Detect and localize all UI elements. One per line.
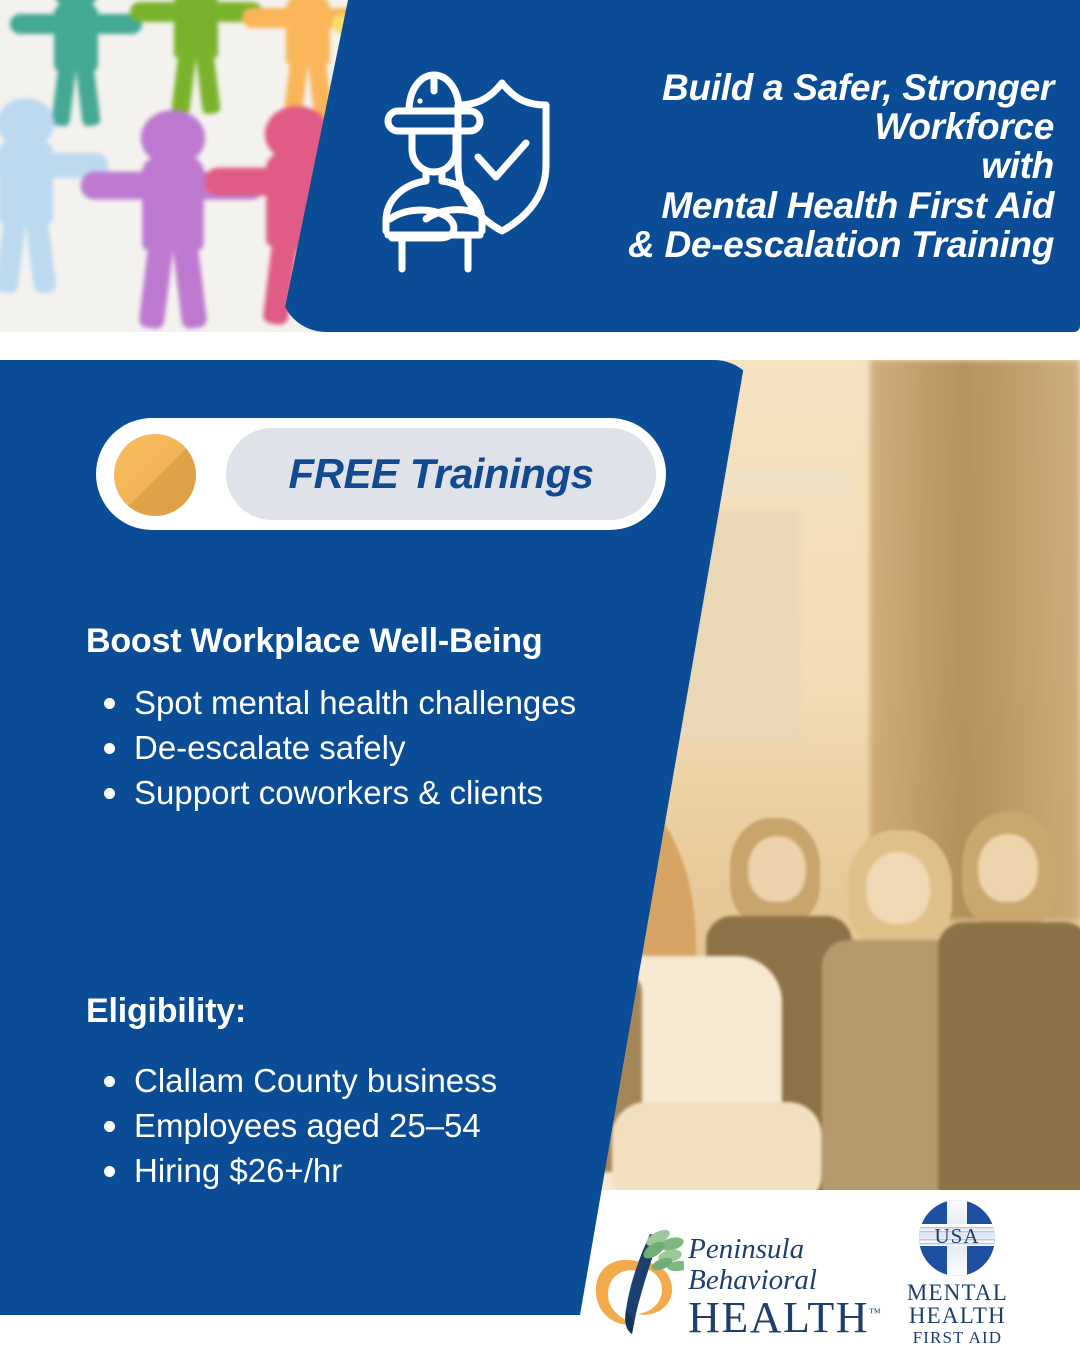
pbh-health-text: HEALTH [688, 1293, 869, 1342]
benefits-heading: Boost Workplace Well-Being [86, 622, 542, 661]
worker-shield-check-icon [376, 59, 556, 274]
list-item: Spot mental health challenges [86, 682, 676, 725]
headline-line-3: with [582, 146, 1054, 185]
header-band: Build a Safer, Stronger Workforce with M… [0, 0, 1080, 332]
eligibility-heading: Eligibility: [86, 992, 246, 1031]
eligibility-list: Clallam County business Employees aged 2… [86, 1060, 676, 1195]
pbh-line-3: HEALTH™ [688, 1296, 881, 1340]
mental-health-first-aid-usa-logo: USA MENTAL HEALTH FIRST AID [907, 1198, 1008, 1346]
benefits-list: Spot mental health challenges De-escalat… [86, 682, 676, 817]
headline-line-1: Build a Safer, Stronger [582, 68, 1054, 107]
list-item: Hiring $26+/hr [86, 1150, 676, 1193]
orange-circle-icon [114, 434, 196, 516]
pbh-line-2: Behavioral [688, 1266, 817, 1295]
list-item: Clallam County business [86, 1060, 676, 1103]
list-item: Employees aged 25–54 [86, 1105, 676, 1148]
mhfa-line-1: MENTAL [907, 1281, 1008, 1304]
free-trainings-pill: FREE Trainings [226, 428, 656, 520]
mhfa-cross-badge-icon: USA [911, 1198, 1003, 1276]
pbh-line-1: Peninsula [688, 1235, 804, 1264]
mhfa-line-2: HEALTH [907, 1304, 1008, 1327]
partner-logos: Peninsula Behavioral HEALTH™ [588, 1198, 1008, 1346]
pbh-wordmark: Peninsula Behavioral HEALTH™ [688, 1235, 881, 1340]
header-blue-panel: Build a Safer, Stronger Workforce with M… [280, 0, 1080, 332]
peninsula-behavioral-health-logo: Peninsula Behavioral HEALTH™ [588, 1228, 881, 1346]
headline-line-5: & De-escalation Training [582, 225, 1054, 264]
headline-line-4: Mental Health First Aid [582, 186, 1054, 225]
free-trainings-badge: FREE Trainings [96, 418, 666, 530]
list-item: Support coworkers & clients [86, 772, 676, 815]
headline-line-2: Workforce [582, 107, 1054, 146]
pbh-mark-icon [588, 1228, 684, 1346]
footer: Peninsula Behavioral HEALTH™ [0, 1190, 1080, 1350]
free-trainings-label: FREE Trainings [289, 450, 594, 498]
mhfa-wordmark: MENTAL HEALTH FIRST AID [907, 1281, 1008, 1346]
mhfa-line-3: FIRST AID [907, 1329, 1008, 1346]
pbh-trademark: ™ [869, 1305, 881, 1319]
mhfa-usa-text: USA [935, 1224, 980, 1248]
list-item: De-escalate safely [86, 727, 676, 770]
page-title: Build a Safer, Stronger Workforce with M… [582, 68, 1054, 264]
